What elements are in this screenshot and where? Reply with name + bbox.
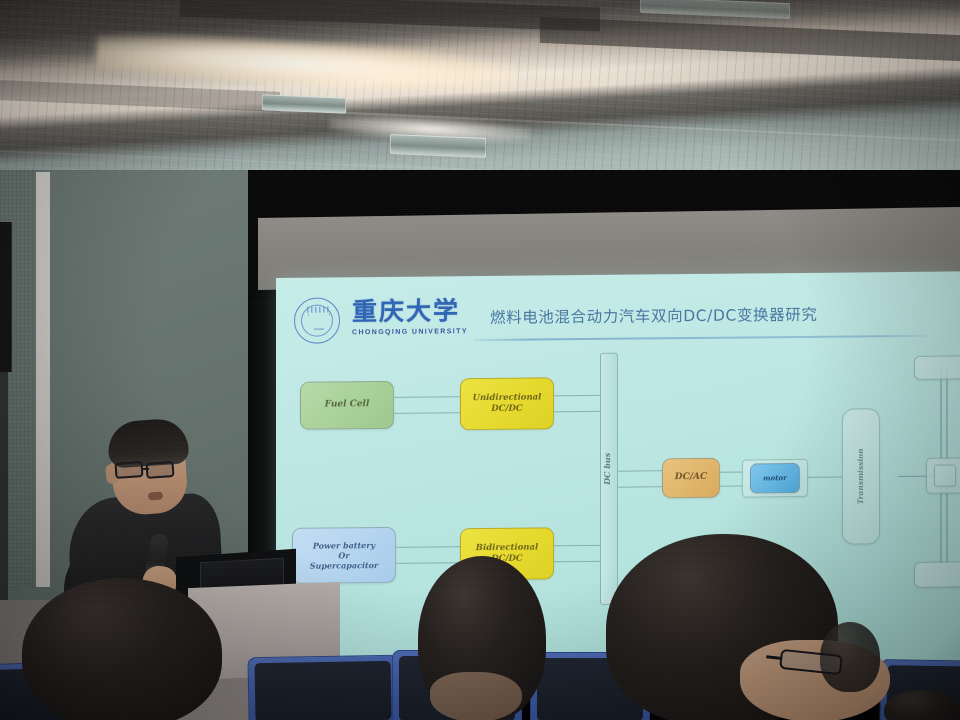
- connector-line: [394, 562, 460, 564]
- presentation-photo-scene: 重庆大学 CHONGQING UNIVERSITY 燃料电池混合动力汽车双向DC…: [0, 0, 960, 720]
- dc-bus-label: DC bus: [602, 453, 616, 485]
- wall-dark-frame: [0, 372, 8, 602]
- seat-cushion: [255, 661, 392, 720]
- block-motor: motor: [750, 463, 800, 493]
- connector-line: [394, 546, 460, 548]
- block-power-battery: Power battery Or Supercapacitor: [292, 527, 396, 584]
- connector-line: [804, 477, 844, 478]
- university-name-cn: 重庆大学: [352, 298, 460, 324]
- connector-line: [394, 412, 460, 414]
- connector-line: [618, 470, 662, 471]
- block-transmission: Transmission: [842, 408, 880, 544]
- university-name-en: CHONGQING UNIVERSITY: [352, 328, 468, 336]
- audience-head: [884, 690, 960, 720]
- block-unidirectional-dcdc: Unidirectional DC/DC: [460, 377, 554, 430]
- presenter-hair: [106, 417, 189, 468]
- block-fuel-cell: Fuel Cell: [300, 381, 394, 430]
- slide-title: 燃料电池混合动力汽车双向DC/DC变换器研究: [490, 303, 817, 328]
- slide-header: 重庆大学 CHONGQING UNIVERSITY 燃料电池混合动力汽车双向DC…: [294, 286, 940, 348]
- audience-head: [22, 578, 222, 720]
- block-motor-label: motor: [763, 474, 787, 483]
- connector-line: [618, 486, 662, 487]
- wheel-top: [914, 355, 960, 380]
- presenter-mouth: [148, 491, 164, 500]
- block-power-battery-label: Power battery Or Supercapacitor: [310, 540, 378, 571]
- cqu-crest-icon: [294, 297, 340, 343]
- crest-detail-icon: [307, 306, 329, 312]
- audience-neck: [430, 672, 522, 720]
- wheel-bottom: [914, 561, 960, 588]
- seat-back: [247, 655, 398, 720]
- air-vent-icon: [390, 134, 486, 158]
- wall-dark-frame: [0, 222, 12, 372]
- glasses-lens-right-icon: [145, 461, 174, 479]
- wall-trim: [36, 172, 50, 587]
- block-unidirectional-dcdc-label: Unidirectional DC/DC: [473, 393, 542, 415]
- block-fuel-cell-label: Fuel Cell: [325, 399, 370, 411]
- block-transmission-label: Transmission: [856, 448, 865, 504]
- block-dc-ac: DC/AC: [662, 458, 720, 499]
- glasses-lens-left-icon: [114, 461, 143, 479]
- connector-line: [394, 396, 460, 398]
- differential-core: [934, 464, 956, 486]
- header-divider: [474, 335, 928, 341]
- block-dc-ac-label: DC/AC: [675, 472, 707, 484]
